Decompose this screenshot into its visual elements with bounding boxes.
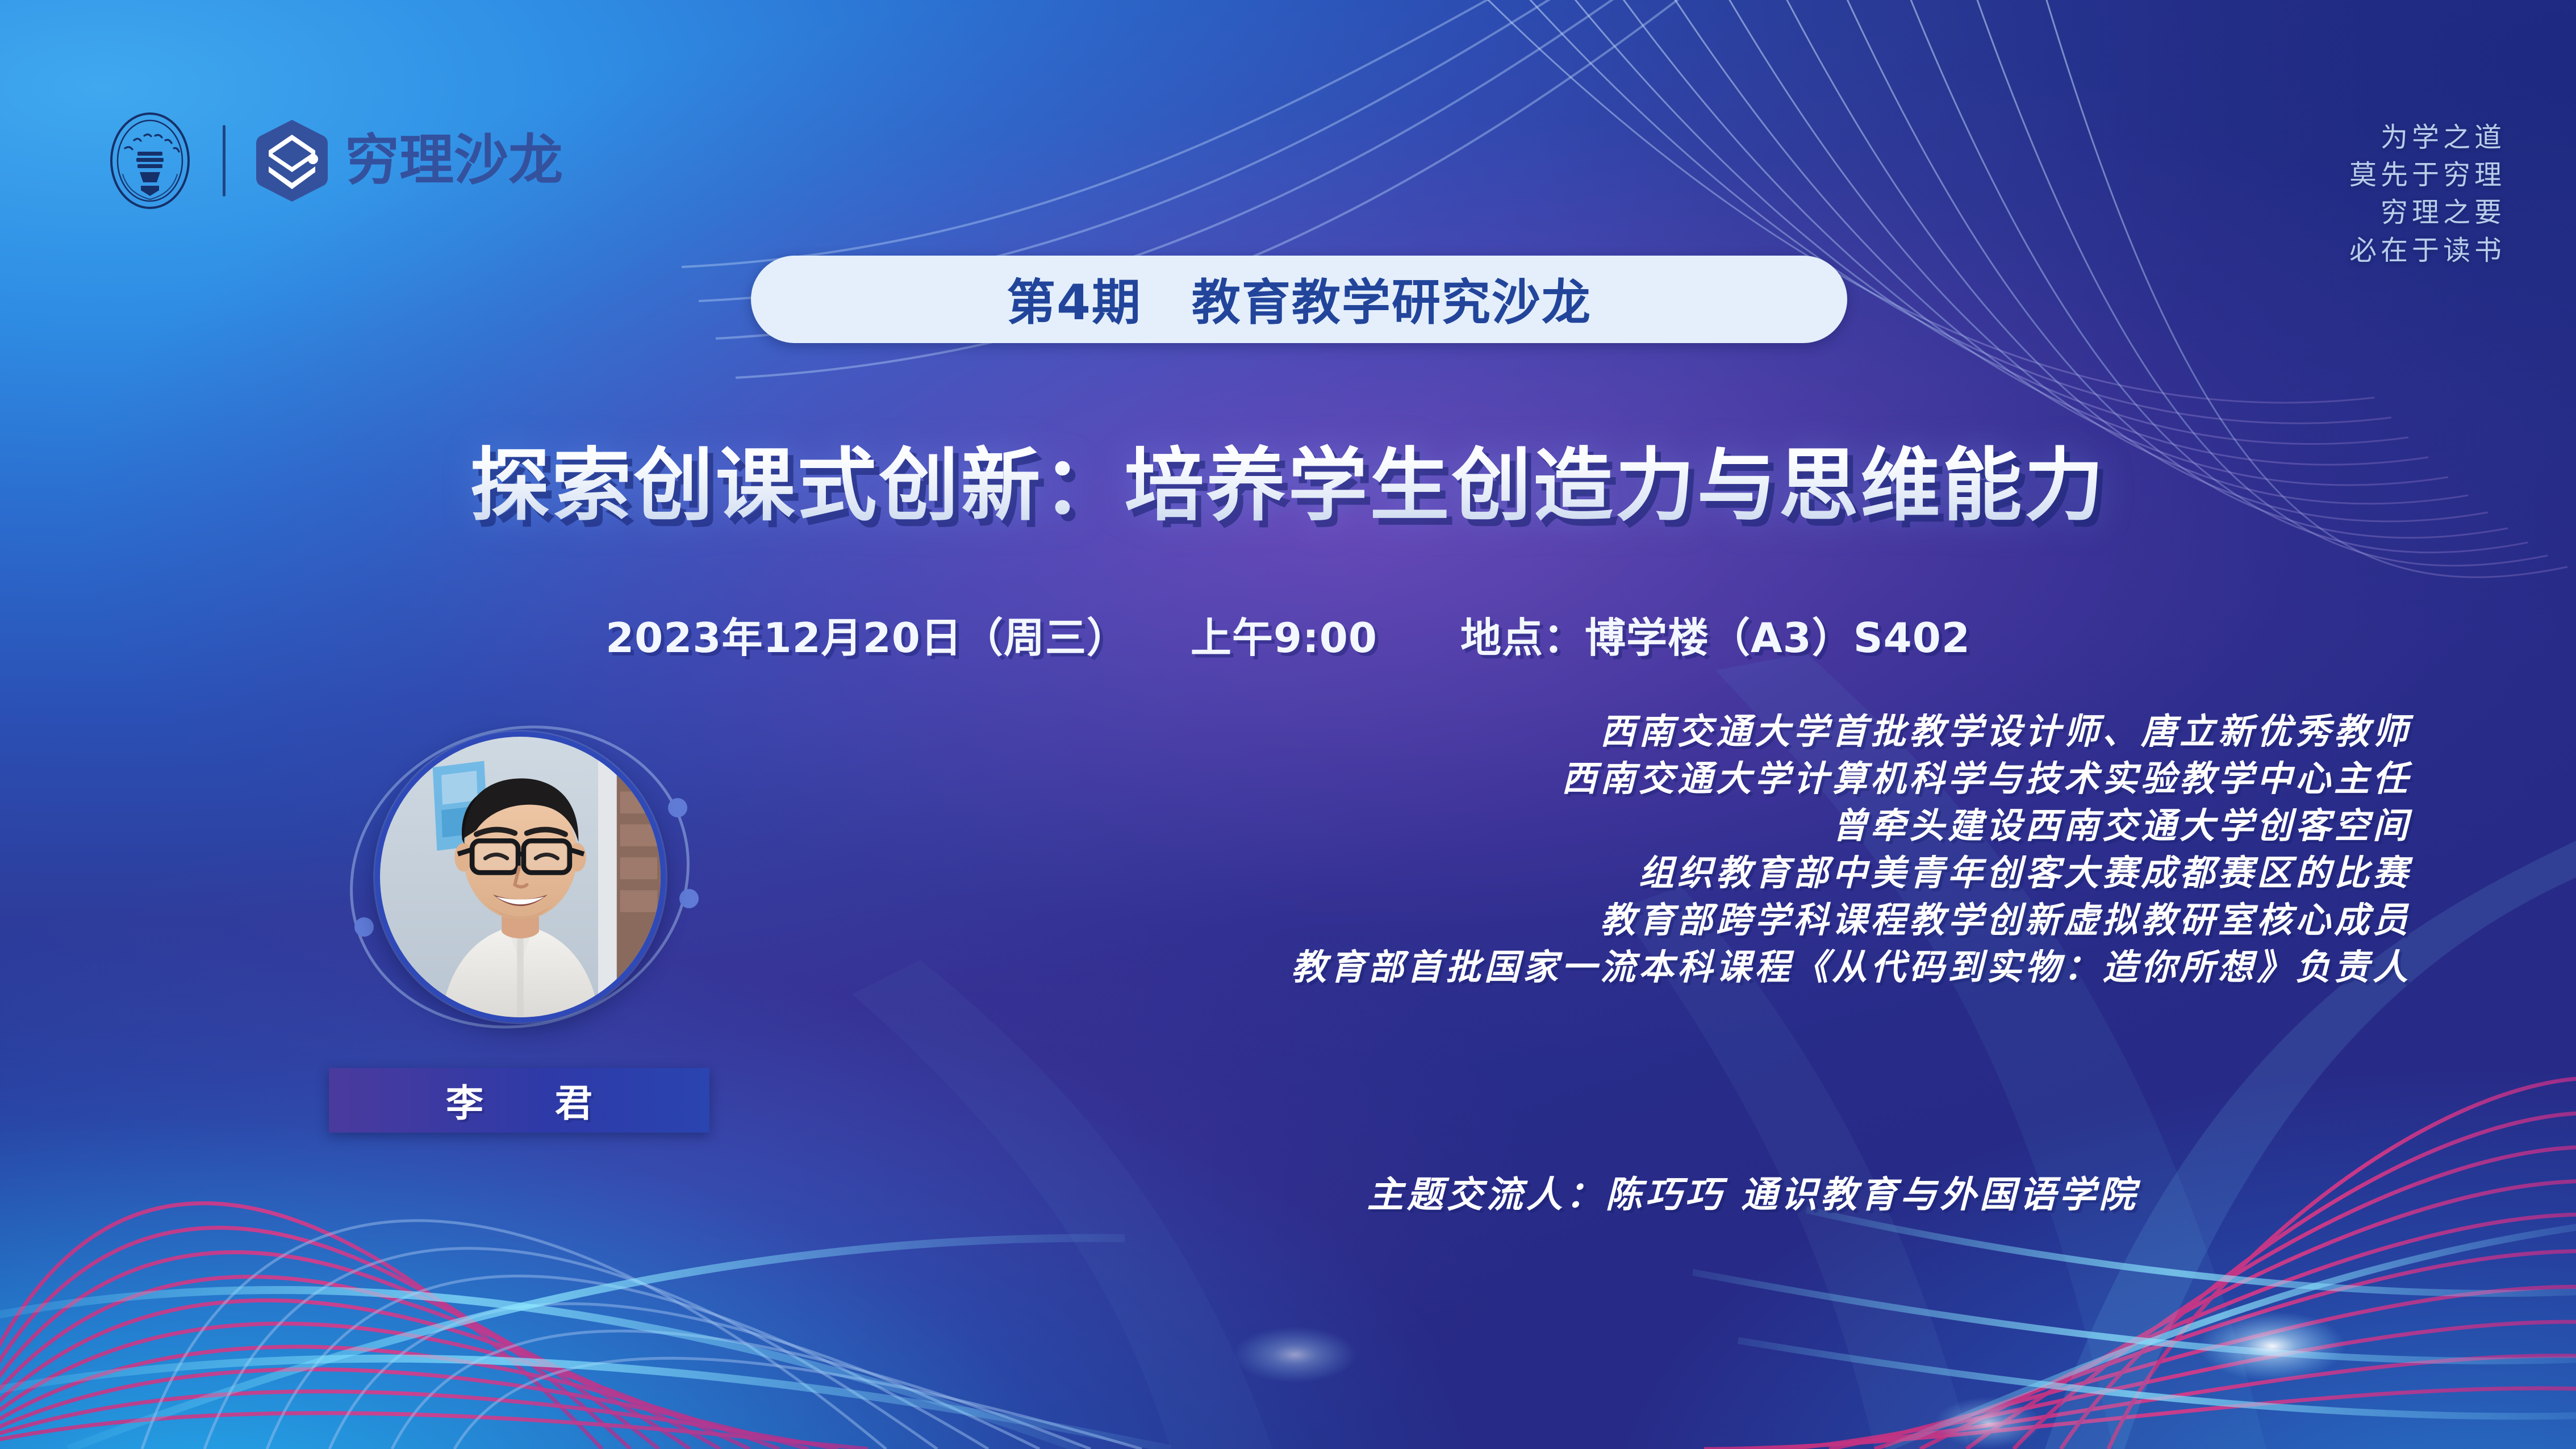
speaker-bio-line-5: 教育部跨学科课程教学创新虚拟教研室核心成员	[1291, 896, 2411, 943]
motto-line-3: 穷理之要	[2349, 194, 2506, 232]
speaker-nameplate: 李 君	[329, 1068, 709, 1133]
bottomleft-light-curves	[142, 1221, 1142, 1449]
motto-line-1: 为学之道	[2349, 119, 2506, 157]
header-logos: 穷理沙龙	[108, 111, 589, 211]
speaker-bio-line-6: 教育部首批国家一流本科课程《从代码到实物：造你所想》负责人	[1291, 943, 2411, 991]
bottomleft-magenta-curves	[0, 1203, 868, 1449]
series-banner-label: 第4期 教育教学研究沙龙	[1007, 262, 1592, 333]
brand-wordmark: 穷理沙龙	[345, 129, 589, 193]
bottomright-cyan-streaks	[1693, 1210, 2576, 1449]
speaker-bio-line-2: 西南交通大学计算机科学与技术实验教学中心主任	[1291, 755, 2411, 802]
brand-logo: 穷理沙龙	[256, 119, 589, 203]
orbit-dot-1	[668, 798, 687, 817]
poster-canvas: 穷理沙龙 为学之道 莫先于穷理 穷理之要 必在于读书 第4期 教育教学研究沙龙 …	[0, 0, 2576, 1449]
speaker-portrait-frame	[375, 732, 666, 1022]
orbit-dot-3	[354, 917, 374, 937]
bottomright-magenta-curves	[1704, 1078, 2576, 1449]
bottomleft-cyan-sweeps	[0, 1238, 1170, 1449]
page-title: 探索创课式创新：培养学生创造力与思维能力	[0, 421, 2576, 536]
brand-wordmark-text: 穷理沙龙	[345, 129, 563, 192]
stacked-layers-hexagon-icon	[256, 119, 328, 203]
host-line: 主题交流人：陈巧巧 通识教育与外国语学院	[1367, 1166, 2139, 1218]
speaker-bio-line-3: 曾牵头建设西南交通大学创客空间	[1291, 802, 2411, 849]
orbit-dot-2	[679, 889, 699, 908]
motto-block: 为学之道 莫先于穷理 穷理之要 必在于读书	[2349, 119, 2506, 270]
speaker-bio-line-4: 组织教育部中美青年创客大赛成都赛区的比赛	[1291, 849, 2411, 896]
university-seal-icon	[108, 111, 192, 211]
speaker-bio-list: 西南交通大学首批教学设计师、唐立新优秀教师 西南交通大学计算机科学与技术实验教学…	[1291, 708, 2411, 991]
speaker-bio-line-1: 西南交通大学首批教学设计师、唐立新优秀教师	[1291, 708, 2411, 755]
event-meta-line: 2023年12月20日（周三） 上午9:00 地点：博学楼（A3）S402	[0, 604, 2576, 664]
speaker-portrait	[380, 737, 661, 1017]
sparkle-glows	[1233, 1311, 2346, 1449]
speaker-name: 李 君	[429, 1073, 609, 1128]
logo-divider	[223, 125, 226, 197]
series-banner-pill: 第4期 教育教学研究沙龙	[751, 256, 1847, 343]
motto-line-4: 必在于读书	[2349, 232, 2506, 270]
speaker-block: 李 君	[321, 700, 719, 1171]
motto-line-2: 莫先于穷理	[2349, 157, 2506, 194]
